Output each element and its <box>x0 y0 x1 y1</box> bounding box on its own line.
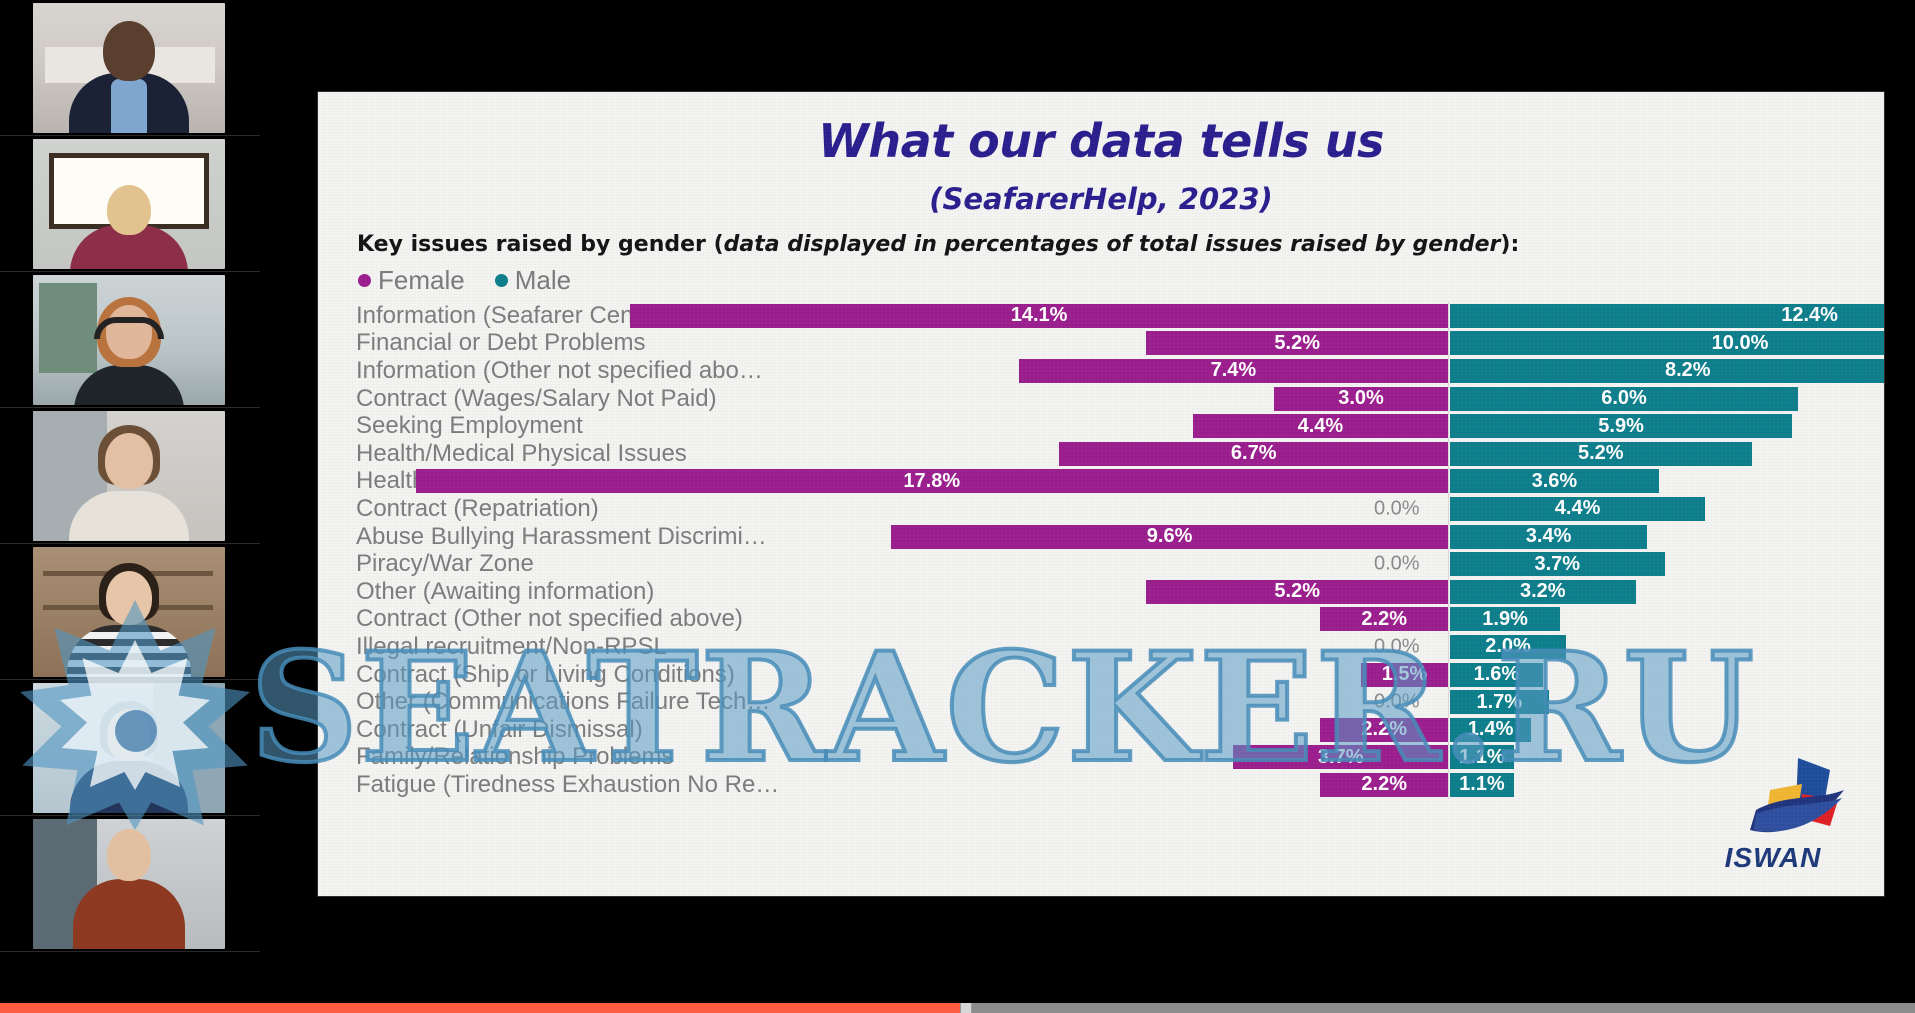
bar-value-female: 4.4% <box>1298 415 1344 438</box>
chart-category-label: Illegal recruitment/Non-RPSL <box>356 633 667 661</box>
chart-row: Contract (Other not specified above)2.2%… <box>356 606 1846 634</box>
video-feed <box>33 411 225 541</box>
legend-swatch-male <box>495 274 508 287</box>
participant-filmstrip <box>0 0 260 980</box>
video-progress-fill <box>0 1003 961 1013</box>
bar-female: 2.2% <box>1320 607 1448 631</box>
bar-value-male: 3.4% <box>1526 525 1572 548</box>
bar-value-female: 6.7% <box>1231 442 1277 465</box>
chart-row: Fatigue (Tiredness Exhaustion No Re…2.2%… <box>356 771 1846 799</box>
participant-tile-5[interactable] <box>0 544 260 680</box>
bar-male: 4.4% <box>1450 497 1705 521</box>
caption-suffix: ): <box>1500 232 1519 257</box>
bar-male: 1.1% <box>1450 745 1514 769</box>
bar-male: 6.0% <box>1450 387 1798 411</box>
bar-value-female: 2.2% <box>1361 608 1407 631</box>
bar-female: 2.2% <box>1320 718 1448 742</box>
bar-male: 3.6% <box>1450 469 1659 493</box>
bar-male: 1.6% <box>1450 663 1543 687</box>
video-feed <box>33 275 225 405</box>
person-head <box>106 571 152 625</box>
chart-row: Abuse Bullying Harassment Discrimi…9.6%3… <box>356 523 1846 551</box>
participant-tile-3[interactable] <box>0 272 260 408</box>
bar-value-female: 1.5% <box>1382 663 1428 686</box>
chart-category-label: Family/Relationship Problems <box>356 743 673 771</box>
bar-value-female: 0.0% <box>1374 553 1420 576</box>
chart-row: Financial or Debt Problems5.2%10.0% <box>356 330 1846 358</box>
chart-row: Contract (Ship or Living Conditions)1.5%… <box>356 661 1846 689</box>
bar-female: 14.1% <box>630 304 1448 328</box>
headset-icon <box>94 317 164 339</box>
bar-female: 6.7% <box>1059 442 1448 466</box>
person-head <box>103 21 155 81</box>
chart-row: Information (Seafarer Centres etc)14.1%1… <box>356 302 1846 330</box>
chart-category-label: Health/Medical Physical Issues <box>356 440 687 468</box>
bar-value-female: 3.7% <box>1318 746 1364 769</box>
chart-row: Health/Medical Psychological17.8%3.6% <box>356 468 1846 496</box>
video-progress-handle[interactable] <box>960 1003 972 1013</box>
chart-category-label: Other (Communications Failure Tech… <box>356 688 770 716</box>
participant-tile-2[interactable] <box>0 136 260 272</box>
bar-male: 10.0% <box>1450 331 1884 355</box>
legend-label-female: Female <box>378 265 465 296</box>
bar-value-male: 5.2% <box>1578 442 1624 465</box>
participant-tile-1[interactable] <box>0 0 260 136</box>
bar-value-female: 14.1% <box>1011 304 1068 327</box>
participant-tile-6[interactable] <box>0 680 260 816</box>
bar-male: 2.0% <box>1450 635 1566 659</box>
bar-value-male: 1.6% <box>1474 663 1520 686</box>
bar-male: 5.2% <box>1450 442 1752 466</box>
bar-value-male: 10.0% <box>1712 332 1769 355</box>
chart-category-label: Other (Awaiting information) <box>356 578 654 606</box>
bar-male: 1.9% <box>1450 607 1560 631</box>
person-shirt <box>111 79 147 133</box>
iswan-sail-icon <box>1698 754 1848 854</box>
presentation-slide: What our data tells us (SeafarerHelp, 20… <box>318 92 1884 896</box>
bar-value-female: 0.0% <box>1374 691 1420 714</box>
chart-category-label: Financial or Debt Problems <box>356 329 645 357</box>
chart-category-label: Contract (Repatriation) <box>356 495 599 523</box>
legend-item-female: Female <box>358 265 465 296</box>
bar-value-female: 5.2% <box>1274 332 1320 355</box>
chart-row: Health/Medical Physical Issues6.7%5.2% <box>356 440 1846 468</box>
bar-female: 1.5% <box>1361 663 1448 687</box>
chart-legend: Female Male <box>356 265 1846 296</box>
bar-female: 7.4% <box>1019 359 1448 383</box>
person-head <box>105 433 153 489</box>
legend-swatch-female <box>358 274 371 287</box>
chart-row: Contract (Unfair Dismissal)2.2%1.4% <box>356 716 1846 744</box>
slide-title: What our data tells us <box>356 114 1846 168</box>
person-head <box>107 709 151 761</box>
chart-row: Illegal recruitment/Non-RPSL0.0%2.0% <box>356 633 1846 661</box>
video-progress-bar[interactable] <box>0 1003 1915 1013</box>
bar-value-female: 3.0% <box>1338 387 1384 410</box>
bar-male: 1.4% <box>1450 718 1531 742</box>
person-head <box>107 829 151 881</box>
bar-female: 17.8% <box>416 469 1448 493</box>
iswan-logo: ISWAN <box>1698 754 1848 874</box>
video-feed <box>33 683 225 813</box>
iswan-wordmark: ISWAN <box>1698 842 1848 874</box>
chart-row: Contract (Wages/Salary Not Paid)3.0%6.0% <box>356 385 1846 413</box>
bar-male: 8.2% <box>1450 359 1884 383</box>
bar-male: 12.4% <box>1450 304 1884 328</box>
caption-prefix: Key issues raised by gender ( <box>357 232 724 257</box>
bar-female: 4.4% <box>1193 414 1448 438</box>
diverging-bar-chart: Information (Seafarer Centres etc)14.1%1… <box>356 302 1846 799</box>
video-feed <box>33 819 225 949</box>
bar-value-male: 1.9% <box>1482 608 1528 631</box>
chart-category-label: Contract (Wages/Salary Not Paid) <box>356 385 717 413</box>
bar-value-female: 7.4% <box>1211 359 1257 382</box>
bar-male: 1.1% <box>1450 773 1514 797</box>
chart-row: Piracy/War Zone0.0%3.7% <box>356 550 1846 578</box>
bar-value-female: 5.2% <box>1274 580 1320 603</box>
bar-female: 5.2% <box>1146 580 1448 604</box>
bar-value-male: 2.0% <box>1485 635 1531 658</box>
bar-value-male: 8.2% <box>1665 359 1711 382</box>
caption-italic: data displayed in percentages of total i… <box>724 232 1501 257</box>
chart-category-label: Seeking Employment <box>356 412 583 440</box>
chart-row: Other (Communications Failure Tech…0.0%1… <box>356 688 1846 716</box>
bar-male: 1.7% <box>1450 690 1549 714</box>
bar-value-male: 12.4% <box>1781 304 1838 327</box>
chart-row: Other (Awaiting information)5.2%3.2% <box>356 578 1846 606</box>
legend-item-male: Male <box>495 265 571 296</box>
bar-value-male: 4.4% <box>1555 497 1601 520</box>
bar-female: 3.0% <box>1274 387 1448 411</box>
chart-row: Family/Relationship Problems3.7%1.1% <box>356 744 1846 772</box>
participant-tile-7[interactable] <box>0 816 260 952</box>
bar-value-male: 3.7% <box>1535 553 1581 576</box>
chart-category-label: Piracy/War Zone <box>356 550 534 578</box>
bar-female: 9.6% <box>891 525 1448 549</box>
bar-male: 3.2% <box>1450 580 1636 604</box>
bar-value-female: 0.0% <box>1374 497 1420 520</box>
bar-female: 2.2% <box>1320 773 1448 797</box>
bar-value-female: 2.2% <box>1361 718 1407 741</box>
bar-value-male: 1.1% <box>1459 746 1505 769</box>
bar-value-male: 1.1% <box>1459 773 1505 796</box>
slide-subtitle: (SeafarerHelp, 2023) <box>356 182 1846 216</box>
chart-category-label: Contract (Unfair Dismissal) <box>356 716 643 744</box>
window-shape <box>39 283 97 373</box>
chart-row: Contract (Repatriation)0.0%4.4% <box>356 495 1846 523</box>
chart-category-label: Information (Other not specified abo… <box>356 357 763 385</box>
bar-value-male: 3.2% <box>1520 580 1566 603</box>
chart-category-label: Contract (Ship or Living Conditions) <box>356 661 735 689</box>
chart-category-label: Abuse Bullying Harassment Discrimi… <box>356 523 767 551</box>
bar-male: 3.7% <box>1450 552 1665 576</box>
video-feed <box>33 139 225 269</box>
video-feed <box>33 3 225 133</box>
video-feed <box>33 547 225 677</box>
chart-category-label: Fatigue (Tiredness Exhaustion No Re… <box>356 771 779 799</box>
bar-value-female: 2.2% <box>1361 773 1407 796</box>
bar-male: 5.9% <box>1450 414 1792 438</box>
chart-row: Information (Other not specified abo…7.4… <box>356 357 1846 385</box>
chart-caption: Key issues raised by gender (data displa… <box>356 232 1846 257</box>
bar-female: 3.7% <box>1233 745 1448 769</box>
bar-value-female: 0.0% <box>1374 635 1420 658</box>
bar-female: 5.2% <box>1146 331 1448 355</box>
bar-value-male: 5.9% <box>1598 415 1644 438</box>
bar-value-female: 17.8% <box>903 470 960 493</box>
bar-male: 3.4% <box>1450 525 1647 549</box>
bar-value-female: 9.6% <box>1147 525 1193 548</box>
legend-label-male: Male <box>515 265 571 296</box>
bar-value-male: 3.6% <box>1532 470 1578 493</box>
chart-row: Seeking Employment4.4%5.9% <box>356 412 1846 440</box>
bar-value-male: 1.7% <box>1477 691 1523 714</box>
chart-category-label: Contract (Other not specified above) <box>356 605 743 633</box>
person-head <box>107 185 151 235</box>
bar-value-male: 6.0% <box>1601 387 1647 410</box>
participant-tile-4[interactable] <box>0 408 260 544</box>
bar-value-male: 1.4% <box>1468 718 1514 741</box>
